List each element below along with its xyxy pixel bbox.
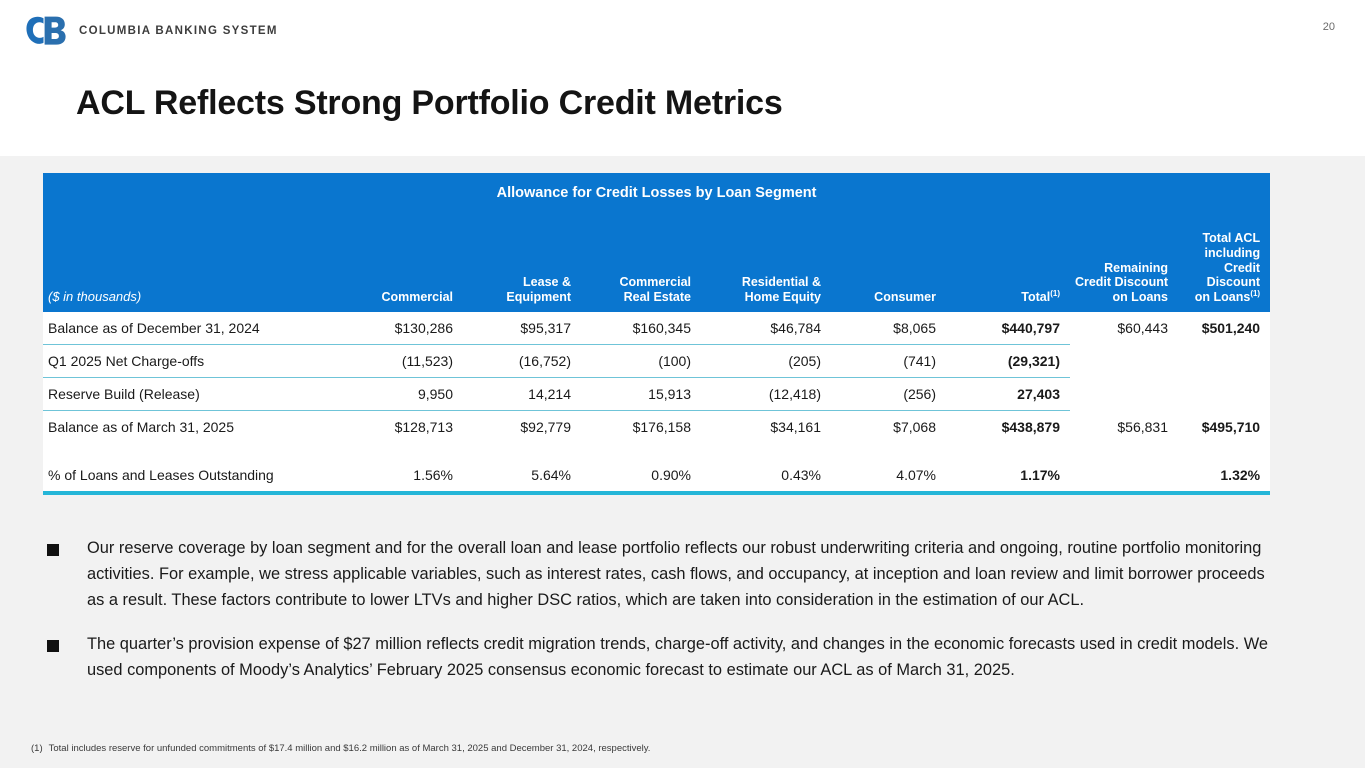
row-label: Balance as of December 31, 2024 [43,312,343,345]
brand-logo-text: COLUMBIA BANKING SYSTEM [79,25,278,37]
row-label: Reserve Build (Release) [43,377,343,410]
cell-lease-equipment: $95,317 [463,312,581,345]
column-header-total-footnote-marker: (1) [1050,289,1060,298]
row-label: Q1 2025 Net Charge-offs [43,344,343,377]
cell-commercial: 1.56% [343,459,463,493]
column-header-residential-home-equity: Residential & Home Equity [701,231,831,312]
column-header-consumer: Consumer [831,231,946,312]
column-header-rhe-line1: Residential & [742,275,821,289]
cell-total-acl: 1.32% [1178,459,1270,493]
column-header-total: Total(1) [946,231,1070,312]
cell-commercial-real-estate: 0.90% [581,459,701,493]
cell-total-acl [1178,377,1270,410]
bullet-text: Our reserve coverage by loan segment and… [87,536,1277,614]
table-row: Reserve Build (Release) 9,950 14,214 15,… [43,377,1270,410]
cell-residential-home-equity: (12,418) [701,377,831,410]
cell-commercial: $130,286 [343,312,463,345]
footnote-text: Total includes reserve for unfunded comm… [49,743,651,754]
page-number: 20 [1323,21,1335,33]
column-header-lease-equipment: Lease & Equipment [463,231,581,312]
cell-commercial-real-estate: $176,158 [581,410,701,443]
column-header-tacl-line2: including [1205,246,1261,260]
table-spacer-cell [43,443,1270,459]
column-header-rhe-line2: Home Equity [745,290,821,304]
bullet-list: Our reserve coverage by loan segment and… [45,536,1277,702]
cell-remaining-credit-discount: $60,443 [1070,312,1178,345]
bullet-square-icon [47,640,59,652]
column-header-lease-equipment-line1: Lease & [523,275,571,289]
cell-residential-home-equity: $34,161 [701,410,831,443]
column-header-commercial-real-estate: Commercial Real Estate [581,231,701,312]
cell-consumer: (256) [831,377,946,410]
table-column-header-row: ($ in thousands) Commercial Lease & Equi… [43,231,1270,312]
column-header-total-acl-including-credit-discount: Total ACL including Credit Discount on L… [1178,231,1270,312]
cell-commercial: (11,523) [343,344,463,377]
table-row: % of Loans and Leases Outstanding 1.56% … [43,459,1270,493]
column-header-rcd-line2: Credit Discount [1075,275,1168,289]
column-header-units: ($ in thousands) [43,231,343,312]
footnote-marker: (1) [31,743,43,754]
cell-total: $440,797 [946,312,1070,345]
cell-consumer: $8,065 [831,312,946,345]
column-header-tacl-line3: Credit Discount [1207,261,1260,290]
cell-residential-home-equity: 0.43% [701,459,831,493]
cell-remaining-credit-discount [1070,344,1178,377]
cell-residential-home-equity: (205) [701,344,831,377]
cell-consumer: (741) [831,344,946,377]
cell-lease-equipment: $92,779 [463,410,581,443]
cell-commercial-real-estate: $160,345 [581,312,701,345]
slide: COLUMBIA BANKING SYSTEM 20 ACL Reflects … [0,0,1365,768]
cell-total-acl: $501,240 [1178,312,1270,345]
column-header-remaining-credit-discount: Remaining Credit Discount on Loans [1070,231,1178,312]
table-row: Q1 2025 Net Charge-offs (11,523) (16,752… [43,344,1270,377]
column-header-cre-line1: Commercial [619,275,691,289]
acl-table: Allowance for Credit Losses by Loan Segm… [43,173,1270,495]
cell-remaining-credit-discount: $56,831 [1070,410,1178,443]
column-header-lease-equipment-line2: Equipment [506,290,571,304]
page-title: ACL Reflects Strong Portfolio Credit Met… [76,84,783,123]
acl-table-container: Allowance for Credit Losses by Loan Segm… [43,173,1270,495]
cell-commercial: 9,950 [343,377,463,410]
cell-lease-equipment: (16,752) [463,344,581,377]
table-row: Balance as of March 31, 2025 $128,713 $9… [43,410,1270,443]
column-header-commercial: Commercial [343,231,463,312]
cell-remaining-credit-discount [1070,459,1178,493]
column-header-commercial-label: Commercial [381,290,453,304]
table-banner-row: Allowance for Credit Losses by Loan Segm… [43,173,1270,231]
table-spacer-row [43,443,1270,459]
cell-total: 27,403 [946,377,1070,410]
cell-commercial-real-estate: (100) [581,344,701,377]
cell-commercial: $128,713 [343,410,463,443]
column-header-tacl-footnote-marker: (1) [1250,289,1260,298]
cell-total-acl [1178,344,1270,377]
table-banner-title: Allowance for Credit Losses by Loan Segm… [43,173,1270,231]
cell-total: 1.17% [946,459,1070,493]
table-body: Balance as of December 31, 2024 $130,286… [43,312,1270,493]
list-item: The quarter’s provision expense of $27 m… [45,632,1277,684]
cb-monogram-logo-icon [26,15,66,46]
table-row: Balance as of December 31, 2024 $130,286… [43,312,1270,345]
bullet-square-icon [47,544,59,556]
bullet-text: The quarter’s provision expense of $27 m… [87,632,1277,684]
column-header-tacl-line4: on Loans [1195,290,1251,304]
column-header-total-label: Total [1021,290,1050,304]
cell-residential-home-equity: $46,784 [701,312,831,345]
row-label: % of Loans and Leases Outstanding [43,459,343,493]
cell-total: $438,879 [946,410,1070,443]
footnote: (1)Total includes reserve for unfunded c… [31,743,650,754]
list-item: Our reserve coverage by loan segment and… [45,536,1277,614]
cell-consumer: $7,068 [831,410,946,443]
column-header-cre-line2: Real Estate [624,290,691,304]
row-label: Balance as of March 31, 2025 [43,410,343,443]
cell-commercial-real-estate: 15,913 [581,377,701,410]
cell-total-acl: $495,710 [1178,410,1270,443]
table-header: Allowance for Credit Losses by Loan Segm… [43,173,1270,312]
column-header-rcd-line1: Remaining [1104,261,1168,275]
cell-remaining-credit-discount [1070,377,1178,410]
cell-total: (29,321) [946,344,1070,377]
cell-lease-equipment: 14,214 [463,377,581,410]
cell-consumer: 4.07% [831,459,946,493]
column-header-tacl-line1: Total ACL [1202,231,1260,245]
cell-lease-equipment: 5.64% [463,459,581,493]
column-header-consumer-label: Consumer [874,290,936,304]
column-header-rcd-line3: on Loans [1112,290,1168,304]
brand-logo: COLUMBIA BANKING SYSTEM [26,15,278,46]
